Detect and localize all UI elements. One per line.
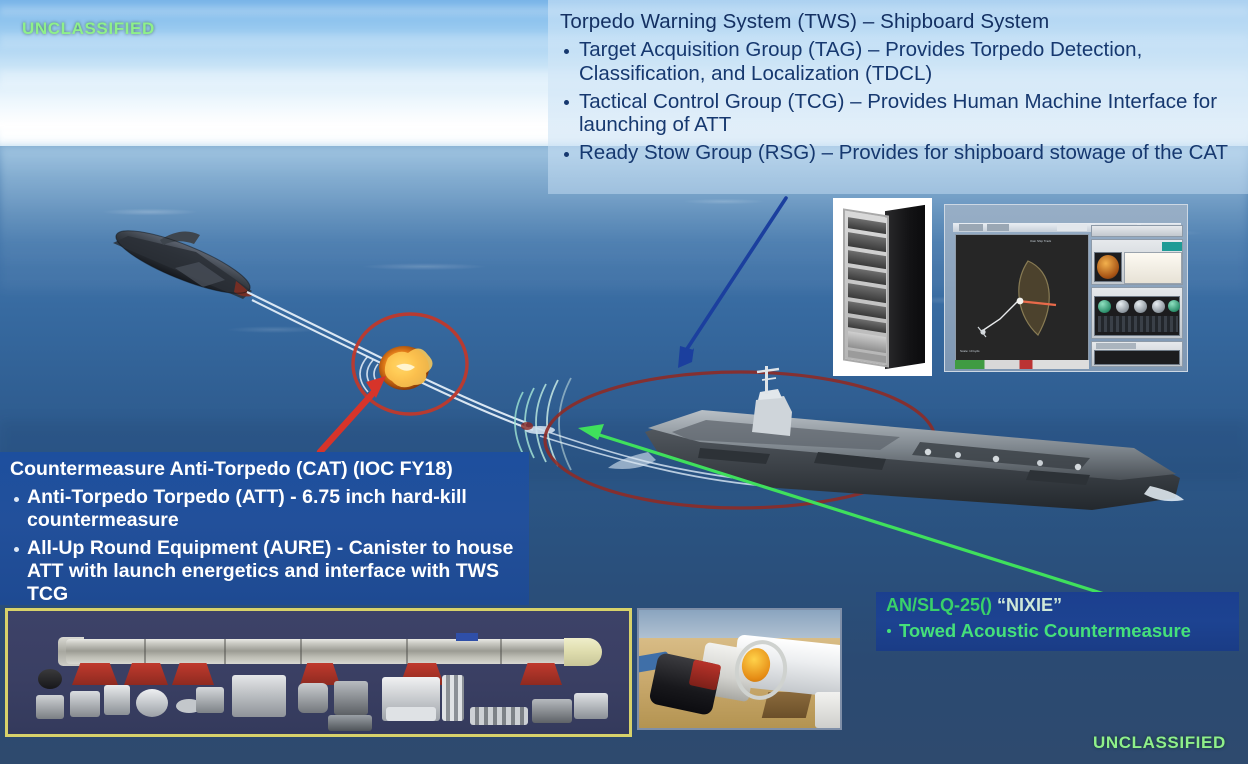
- component: [104, 685, 130, 715]
- console-side-panels: [1091, 225, 1183, 367]
- nixie-description-panel: AN/SLQ-25() “NIXIE” Towed Acoustic Count…: [876, 592, 1239, 651]
- rack-side-panel: [885, 205, 925, 369]
- blue-label-tag: [456, 633, 478, 641]
- bullet-dot-icon: [564, 100, 569, 105]
- nixie-heading: AN/SLQ-25() “NIXIE”: [886, 595, 1233, 617]
- nixie-designation: AN/SLQ-25(): [886, 595, 997, 615]
- bullet-dot-icon: [887, 629, 891, 633]
- console-tactical-plot: Own Ship Track Scale: 10 kyds: [955, 234, 1089, 362]
- console-status-bar: [955, 360, 1089, 369]
- component: [386, 707, 436, 721]
- component: [334, 681, 368, 715]
- tws-description-panel: Torpedo Warning System (TWS) – Shipboard…: [548, 0, 1248, 194]
- component: [136, 689, 168, 717]
- tws-bullet-text: Ready Stow Group (RSG) – Provides for sh…: [579, 141, 1228, 164]
- component: [196, 687, 224, 713]
- nixie-towed-body-photo: [637, 608, 842, 730]
- nixie-nickname: “NIXIE”: [997, 595, 1062, 615]
- tws-bullet-text: Target Acquisition Group (TAG) – Provide…: [579, 38, 1142, 85]
- slide-canvas: Own Ship Track Scale: 10 kyds: [0, 0, 1248, 764]
- classification-banner-bottom: UNCLASSIFIED: [1093, 733, 1226, 753]
- cat-bullet-item: All-Up Round Equipment (AURE) - Canister…: [12, 537, 521, 605]
- cat-bullet-item: Anti-Torpedo Torpedo (ATT) - 6.75 inch h…: [12, 486, 521, 532]
- bullet-dot-icon: [564, 152, 569, 157]
- component: [328, 715, 372, 731]
- cat-bullet-text: All-Up Round Equipment (AURE) - Canister…: [27, 537, 513, 605]
- component: [38, 669, 62, 689]
- tws-bullet-item: Ready Stow Group (RSG) – Provides for sh…: [562, 141, 1238, 165]
- torpedo-nose-dome: [564, 638, 602, 666]
- component: [470, 707, 528, 725]
- bullet-dot-icon: [14, 547, 19, 552]
- component: [532, 699, 572, 723]
- cat-bullet-text: Anti-Torpedo Torpedo (ATT) - 6.75 inch h…: [27, 486, 467, 531]
- rack-module-stack: [845, 213, 887, 364]
- tws-bullet-item: Tactical Control Group (TCG) – Provides …: [562, 90, 1238, 138]
- cat-heading: Countermeasure Anti-Torpedo (CAT) (IOC F…: [10, 458, 521, 481]
- bullet-dot-icon: [564, 49, 569, 54]
- cat-description-panel: Countermeasure Anti-Torpedo (CAT) (IOC F…: [0, 452, 529, 605]
- tws-bullet-list: Target Acquisition Group (TAG) – Provide…: [558, 38, 1238, 165]
- tws-bullet-text: Tactical Control Group (TCG) – Provides …: [579, 90, 1217, 137]
- bullet-dot-icon: [14, 497, 19, 502]
- component: [70, 691, 100, 717]
- tws-heading: Torpedo Warning System (TWS) – Shipboard…: [560, 10, 1238, 34]
- component: [232, 675, 286, 717]
- nixie-bullet-item: Towed Acoustic Countermeasure: [886, 620, 1233, 642]
- tws-equipment-rack-photo: [833, 198, 932, 376]
- plot-graphics: [956, 235, 1088, 361]
- red-band: [689, 659, 722, 690]
- component: [442, 675, 464, 721]
- component: [574, 693, 608, 719]
- tws-tactical-display-console-photo: Own Ship Track Scale: 10 kyds: [944, 204, 1188, 372]
- white-bucket: [815, 692, 842, 728]
- component: [298, 683, 328, 713]
- tws-bullet-item: Target Acquisition Group (TAG) – Provide…: [562, 38, 1238, 86]
- cat-bullet-list: Anti-Torpedo Torpedo (ATT) - 6.75 inch h…: [10, 486, 521, 605]
- component: [36, 695, 64, 719]
- att-torpedo-exploded-components-photo: [5, 608, 632, 737]
- classification-banner-top: UNCLASSIFIED: [22, 19, 155, 39]
- nixie-bullet-text: Towed Acoustic Countermeasure: [899, 620, 1191, 641]
